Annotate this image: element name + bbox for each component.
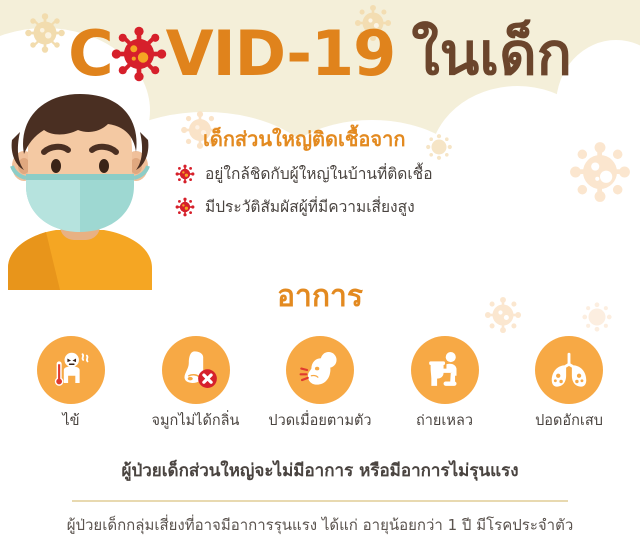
title-coronavirus-icon — [110, 23, 168, 85]
symptom-label: ถ่ายเหลว — [416, 413, 473, 430]
symptom-item: จมูกไม่ได้กลิ่น — [137, 336, 255, 430]
fever-thermometer-icon — [48, 347, 94, 393]
body-ache-icon — [297, 347, 343, 393]
symptom-label: ปวดเมื่อยตามตัว — [268, 413, 371, 430]
symptom-icon-circle — [286, 336, 354, 404]
symptom-label: จมูกไม่ได้กลิ่น — [152, 413, 240, 430]
symptom-icon-circle — [535, 336, 603, 404]
symptom-icon-circle — [411, 336, 479, 404]
title-letter-c: C — [68, 23, 114, 85]
transmission-section: เด็กส่วนใหญ่ติดเชื้อจาก อยู่ใกล้ชิดกับผู… — [175, 126, 630, 230]
transmission-item-label: อยู่ใกล้ชิดกับผู้ใหญ่ในบ้านที่ติดเชื้อ — [205, 164, 433, 185]
symptoms-heading: อาการ — [0, 282, 640, 312]
transmission-heading: เด็กส่วนใหญ่ติดเชื้อจาก — [203, 126, 630, 152]
symptom-label: ไข้ — [62, 413, 79, 430]
title-thai-text: ในเด็ก — [411, 25, 572, 83]
risk-group-note: ผู้ป่วยเด็กกลุ่มเสี่ยงที่อาจมีอาการรุนแร… — [0, 516, 640, 536]
diarrhea-toilet-icon — [422, 347, 468, 393]
summary-statement: ผู้ป่วยเด็กส่วนใหญ่จะไม่มีอาการ หรือมีอา… — [0, 460, 640, 482]
symptom-item: ปอดอักเสบ — [510, 336, 628, 430]
page-title: C VI — [0, 14, 640, 94]
nose-no-smell-icon — [173, 347, 219, 393]
symptom-item: ถ่ายเหลว — [386, 336, 504, 430]
infographic-root: C VI — [0, 0, 640, 549]
coronavirus-icon — [175, 164, 195, 184]
symptom-item: ไข้ — [12, 336, 130, 430]
symptom-label: ปอดอักเสบ — [535, 413, 603, 430]
transmission-list-item: มีประวัติสัมผัสผู้ที่มีความเสี่ยงสูง — [175, 197, 630, 218]
transmission-item-label: มีประวัติสัมผัสผู้ที่มีความเสี่ยงสูง — [205, 197, 415, 218]
symptoms-list: ไข้ จมูกไม่ได้กลิ่น — [12, 336, 628, 430]
title-covid-text: VID-19 — [166, 23, 396, 85]
lungs-pneumonia-icon — [546, 347, 592, 393]
symptom-icon-circle — [37, 336, 105, 404]
transmission-list-item: อยู่ใกล้ชิดกับผู้ใหญ่ในบ้านที่ติดเชื้อ — [175, 164, 630, 185]
symptom-icon-circle — [162, 336, 230, 404]
symptom-item: ปวดเมื่อยตามตัว — [261, 336, 379, 430]
boy-wearing-face-mask-illustration — [4, 92, 156, 290]
section-divider — [72, 500, 568, 502]
coronavirus-icon — [175, 197, 195, 217]
